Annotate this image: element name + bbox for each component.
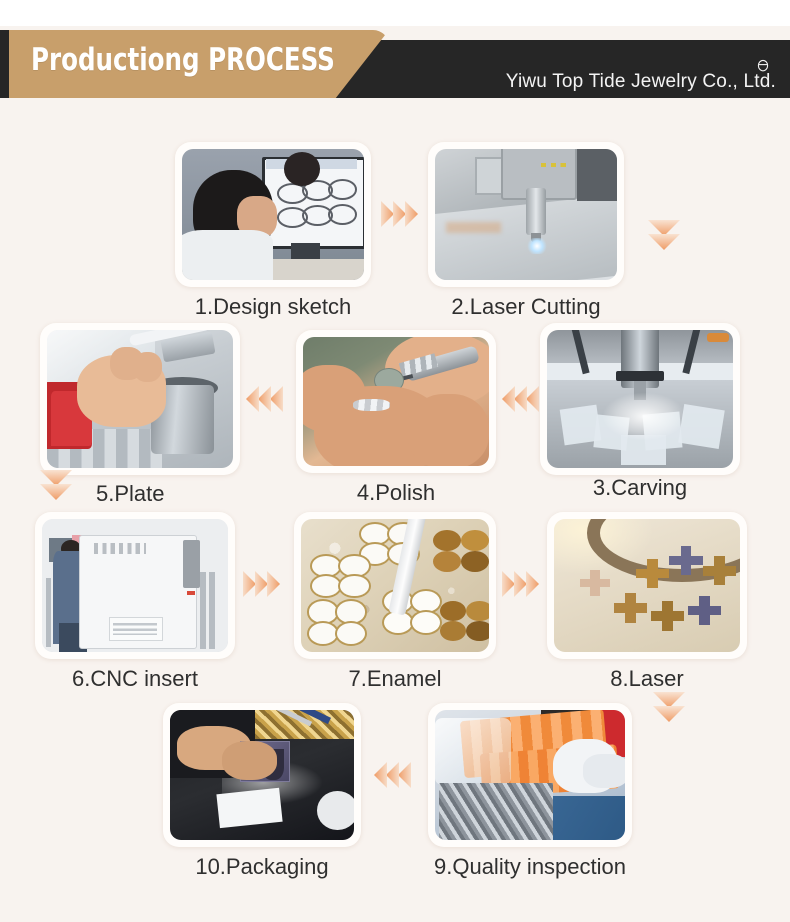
step-caption-6: 6.CNC insert	[35, 666, 235, 692]
step-photo-6-cnc-insert-machine-and-operator	[42, 519, 228, 652]
step-card-10[interactable]: 10.Packaging	[163, 703, 361, 847]
step-card-4[interactable]: 4.Polish	[296, 330, 496, 473]
arrow-7-to-8-right-chevron-icon	[502, 566, 544, 602]
page-title: Productiong PROCESS	[31, 42, 335, 78]
step-photo-5-hand-loading-plating-fixture	[47, 330, 233, 468]
step-photo-frame-4	[296, 330, 496, 473]
step-card-9[interactable]: 9.Quality inspection	[428, 703, 632, 847]
production-process-infographic: Productiong PROCESS Yiwu Top Tide Jewelr…	[0, 0, 790, 922]
arrow-4-to-5-left-chevron-icon	[246, 381, 288, 417]
step-photo-7-enamel-filling-clover-charms	[301, 519, 489, 652]
step-photo-4-hands-polishing-ring	[303, 337, 489, 466]
step-card-6[interactable]: 6.CNC insert	[35, 512, 235, 659]
step-photo-frame-10	[163, 703, 361, 847]
step-caption-1: 1.Design sketch	[175, 294, 371, 320]
step-photo-2-fiber-laser-cutting-head	[435, 149, 617, 280]
arrow-2-to-3-down-chevron-icon	[644, 218, 684, 262]
step-caption-2: 2.Laser Cutting	[428, 294, 624, 320]
company-name: Yiwu Top Tide Jewelry Co., Ltd.	[506, 71, 776, 93]
step-card-8[interactable]: 8.Laser	[547, 512, 747, 659]
step-photo-frame-7	[294, 512, 496, 659]
header-banner: Productiong PROCESS Yiwu Top Tide Jewelr…	[0, 26, 790, 98]
top-white-margin	[0, 0, 790, 26]
step-caption-8: 8.Laser	[547, 666, 747, 692]
step-card-3[interactable]: 3.Carving	[540, 323, 740, 475]
step-caption-3: 3.Carving	[540, 475, 740, 501]
arrow-1-to-2-right-chevron-icon	[381, 196, 423, 232]
step-card-5[interactable]: 5.Plate	[40, 323, 240, 475]
step-card-7[interactable]: 7.Enamel	[294, 512, 496, 659]
step-caption-9: 9.Quality inspection	[428, 854, 632, 880]
step-photo-frame-5	[40, 323, 240, 475]
step-photo-frame-2	[428, 142, 624, 287]
step-photo-frame-1	[175, 142, 371, 287]
arrow-5-to-6-down-chevron-icon	[38, 468, 74, 512]
step-photo-frame-8	[547, 512, 747, 659]
step-photo-9-gloved-hands-sorting-parts	[435, 710, 625, 840]
header-left-dark-stub	[0, 30, 10, 98]
arrow-3-to-4-left-chevron-icon	[502, 381, 544, 417]
step-photo-1-worker-at-cad-monitor	[182, 149, 364, 280]
step-caption-10: 10.Packaging	[163, 854, 361, 880]
arrow-6-to-7-right-chevron-icon	[243, 566, 285, 602]
step-photo-frame-9	[428, 703, 632, 847]
step-card-2[interactable]: 2.Laser Cutting	[428, 142, 624, 287]
step-photo-3-cnc-carving-with-coolant	[547, 330, 733, 468]
step-caption-7: 7.Enamel	[294, 666, 496, 692]
step-caption-4: 4.Polish	[296, 480, 496, 506]
step-photo-frame-6	[35, 512, 235, 659]
arrow-9-to-10-left-chevron-icon	[374, 757, 416, 793]
arrow-8-to-9-down-chevron-icon	[650, 690, 688, 734]
step-caption-5: 5.Plate	[96, 481, 165, 507]
step-photo-8-laser-marked-clover-parts	[554, 519, 740, 652]
step-photo-10-hands-packing-jewelry-box	[170, 710, 354, 840]
step-card-1[interactable]: 1.Design sketch	[175, 142, 371, 287]
step-photo-frame-3	[540, 323, 740, 475]
